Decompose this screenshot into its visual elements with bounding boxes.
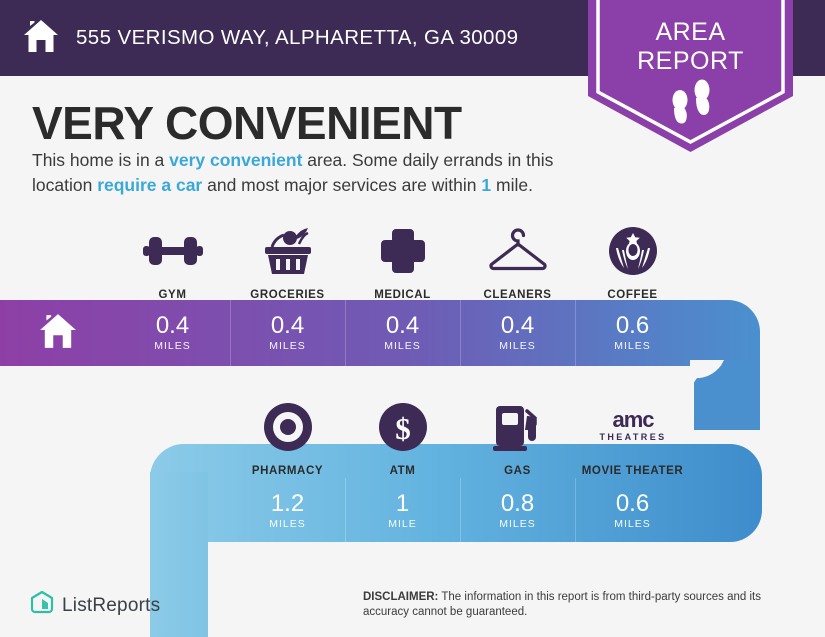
distance-bar-2: 1.2 MILES 1 MILE 0.8 MILES 0.6 MILES — [230, 478, 690, 544]
amenity-label: ATM — [390, 465, 416, 477]
disclaimer-label: DISCLAIMER: — [363, 591, 438, 603]
gas-pump-icon — [492, 398, 544, 456]
distance-cell: 0.6 MILES — [575, 300, 690, 366]
property-address: 555 VERISMO WAY, ALPHARETTA, GA 30009 — [76, 26, 518, 50]
amenity-medical: MEDICAL — [345, 222, 460, 301]
distance-cell: 0.4 MILES — [230, 300, 345, 366]
distance-unit: MILES — [614, 340, 651, 352]
amenity-icon-row-1: GYM GROCERIES — [115, 222, 690, 301]
distance-cell: 0.6 MILES — [575, 478, 690, 544]
amc-icon: amc THEATRES — [591, 398, 675, 456]
distance-cell: 0.4 MILES — [345, 300, 460, 366]
amenity-label: PHARMACY — [252, 465, 323, 477]
listreports-logo-icon — [30, 590, 54, 621]
distance-unit: MILES — [614, 518, 651, 530]
summary-text: This home is in a very convenient area. … — [32, 148, 592, 198]
home-marker-cell — [0, 300, 115, 366]
summary-highlight-1: very convenient — [169, 150, 302, 170]
distance-cell: 0.4 MILES — [460, 300, 575, 366]
distance-unit: MILES — [154, 340, 191, 352]
page-title: VERY CONVENIENT — [32, 96, 462, 150]
distance-value: 0.4 — [501, 314, 534, 338]
dollar-icon: $ — [378, 398, 428, 456]
summary-part-1: This home is in a — [32, 150, 169, 170]
svg-text:THEATRES: THEATRES — [599, 432, 666, 442]
home-icon — [37, 312, 79, 355]
target-icon — [263, 398, 313, 456]
distance-value: 1.2 — [271, 492, 304, 516]
distance-unit: MILES — [269, 340, 306, 352]
amenity-atm: $ ATM — [345, 398, 460, 477]
distance-cell: 1.2 MILES — [230, 478, 345, 544]
distance-bar-1: 0.4 MILES 0.4 MILES 0.4 MILES 0.4 MILES … — [0, 300, 690, 366]
home-icon — [22, 18, 60, 59]
distance-value: 0.4 — [156, 314, 189, 338]
amenity-movie-theater: amc THEATRES MOVIE THEATER — [575, 398, 690, 477]
svg-text:amc: amc — [612, 407, 654, 432]
distance-unit: MILES — [499, 518, 536, 530]
amenity-groceries: GROCERIES — [230, 222, 345, 301]
amenity-coffee: COFFEE — [575, 222, 690, 301]
dumbbell-icon — [140, 222, 206, 280]
distance-unit: MILES — [269, 518, 306, 530]
area-report-page: 555 VERISMO WAY, ALPHARETTA, GA 30009 AR… — [0, 0, 825, 637]
amenity-label: MOVIE THEATER — [582, 465, 684, 477]
amenity-cleaners: CLEANERS — [460, 222, 575, 301]
area-report-badge: AREA REPORT — [588, 0, 793, 152]
starbucks-icon — [608, 222, 658, 280]
listreports-logo-text: ListReports — [62, 595, 160, 617]
distance-value: 1 — [396, 492, 409, 516]
amenity-label: GAS — [504, 465, 531, 477]
distance-cell: 1 MILE — [345, 478, 460, 544]
distance-value: 0.4 — [271, 314, 304, 338]
distance-value: 0.8 — [501, 492, 534, 516]
summary-part-4: mile. — [491, 175, 533, 195]
disclaimer: DISCLAIMER: The information in this repo… — [363, 590, 793, 620]
distance-cell: 0.8 MILES — [460, 478, 575, 544]
amenity-gas: GAS — [460, 398, 575, 477]
distance-value: 0.6 — [616, 314, 649, 338]
amenity-pharmacy: PHARMACY — [230, 398, 345, 477]
distance-unit: MILES — [384, 340, 421, 352]
distance-unit: MILES — [499, 340, 536, 352]
distance-cell: 0.4 MILES — [115, 300, 230, 366]
distance-value: 0.6 — [616, 492, 649, 516]
distance-value: 0.4 — [386, 314, 419, 338]
basket-icon — [259, 222, 317, 280]
cross-icon — [379, 222, 427, 280]
amenity-gym: GYM — [115, 222, 230, 301]
hanger-icon — [485, 222, 551, 280]
summary-highlight-3: 1 — [481, 175, 491, 195]
listreports-logo: ListReports — [30, 590, 160, 621]
summary-part-3: and most major services are within — [202, 175, 481, 195]
svg-text:$: $ — [395, 411, 411, 446]
summary-highlight-2: require a car — [97, 175, 202, 195]
bar-connector-right — [690, 360, 770, 430]
amenity-icon-row-2: PHARMACY $ ATM GAS — [230, 398, 690, 477]
distance-unit: MILE — [388, 518, 417, 530]
